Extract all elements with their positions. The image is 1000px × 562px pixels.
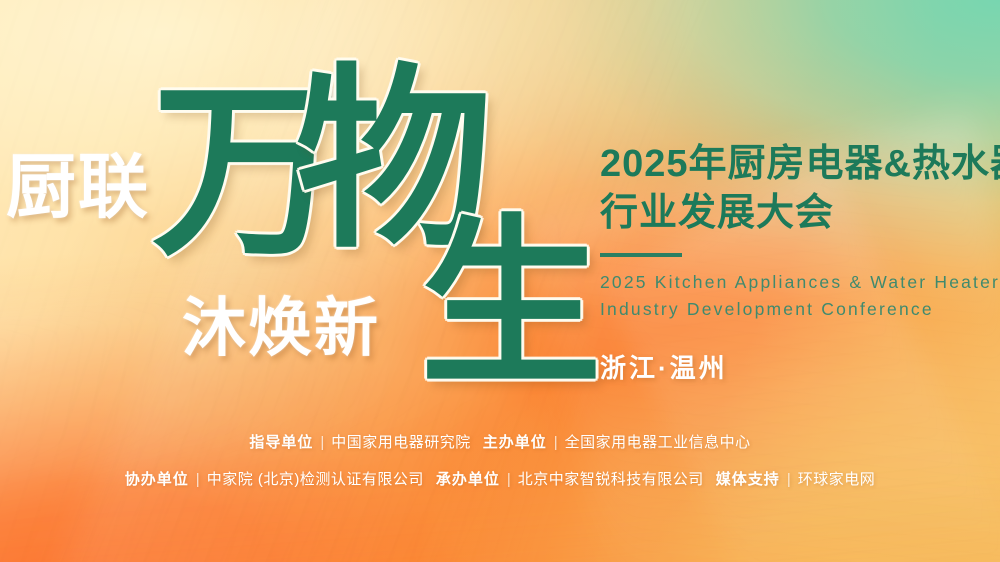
title-divider-rule — [600, 253, 682, 257]
credit-value: 环球家电网 — [798, 471, 876, 488]
credit-label: 媒体支持 — [716, 471, 780, 488]
credit-separator: | — [507, 461, 511, 498]
credit-separator: | — [787, 461, 791, 498]
event-poster: 厨联 万 物 生 沐焕新 2025年厨房电器&热水器 行业发展大会 2025 K… — [0, 0, 1000, 562]
headline-char-muhuanxin: 沐焕新 — [182, 296, 380, 360]
credit-item: 承办单位|北京中家智锐科技有限公司 — [436, 461, 704, 498]
credit-value: 中国家用电器研究院 — [331, 434, 471, 451]
credit-separator: | — [554, 424, 558, 461]
headline-char-chulian: 厨联 — [6, 152, 150, 222]
title-en-line1: 2025 Kitchen Appliances & Water Heater — [600, 269, 1000, 295]
credit-separator: | — [196, 461, 200, 498]
credit-label: 协办单位 — [125, 471, 189, 488]
headline-artwork: 厨联 万 物 生 沐焕新 — [0, 0, 600, 410]
credit-item: 指导单位|中国家用电器研究院 — [249, 424, 470, 461]
credit-value: 全国家用电器工业信息中心 — [565, 434, 751, 451]
credit-item: 主办单位|全国家用电器工业信息中心 — [483, 424, 751, 461]
organizer-credits: 指导单位|中国家用电器研究院主办单位|全国家用电器工业信息中心 协办单位|中家院… — [0, 424, 1000, 498]
credit-row-1: 指导单位|中国家用电器研究院主办单位|全国家用电器工业信息中心 — [0, 424, 1000, 461]
credit-value: 北京中家智锐科技有限公司 — [518, 471, 704, 488]
title-cn-line1: 2025年厨房电器&热水器 — [600, 140, 1000, 189]
credit-item: 媒体支持|环球家电网 — [716, 461, 875, 498]
credit-label: 承办单位 — [436, 471, 500, 488]
credit-label: 指导单位 — [249, 434, 313, 451]
credit-row-2: 协办单位|中家院 (北京)检测认证有限公司承办单位|北京中家智锐科技有限公司媒体… — [0, 461, 1000, 498]
credit-label: 主办单位 — [483, 434, 547, 451]
headline-char-sheng: 生 — [420, 212, 602, 394]
title-cn-line2: 行业发展大会 — [600, 189, 1000, 238]
credit-item: 协办单位|中家院 (北京)检测认证有限公司 — [125, 461, 424, 498]
conference-title-block: 2025年厨房电器&热水器 行业发展大会 2025 Kitchen Applia… — [600, 140, 1000, 385]
credit-value: 中家院 (北京)检测认证有限公司 — [207, 471, 424, 488]
event-location: 浙江·温州 — [600, 348, 1000, 385]
title-en-line2: Industry Development Conference — [600, 296, 1000, 322]
credit-separator: | — [320, 424, 324, 461]
